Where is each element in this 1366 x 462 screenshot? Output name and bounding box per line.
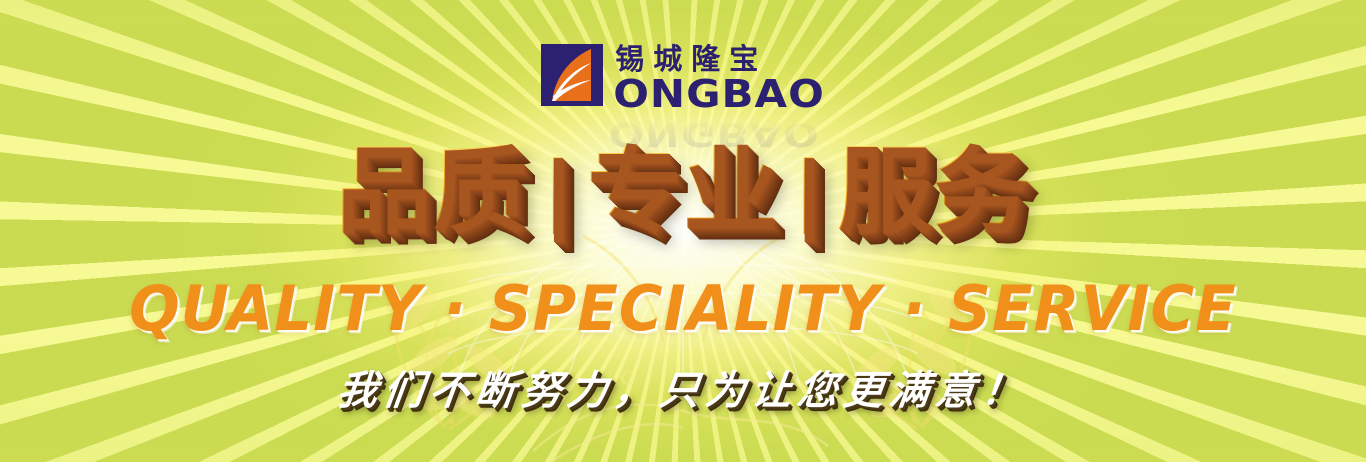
headline-separator-1: | <box>536 150 579 234</box>
logo-english-name: ONGBAO <box>613 75 825 114</box>
headline-separator-2: | <box>787 150 830 234</box>
headline-word-3: 服务 <box>836 145 1032 239</box>
promotional-banner: ONGBAO 锡城隆宝 ONGBAO 品质 | 专业 | 服务 QUALITY … <box>0 0 1366 462</box>
logo-chinese-name: 锡城隆宝 <box>615 45 825 74</box>
chinese-tagline: 我们不断努力，只为让您更满意！ <box>0 358 1366 416</box>
headline-word-1: 品质 <box>334 145 530 239</box>
english-tagline: QUALITY · SPECIALITY · SERVICE <box>0 272 1366 345</box>
chinese-tagline-text: 我们不断努力，只为让您更满意！ <box>334 358 1031 416</box>
headline-group: 品质 | 专业 | 服务 <box>0 128 1366 256</box>
english-tagline-text: QUALITY · SPECIALITY · SERVICE <box>129 272 1237 345</box>
sail-leaf-mark-icon <box>541 44 603 106</box>
headline-word-2: 专业 <box>585 145 781 239</box>
company-logo: 锡城隆宝 ONGBAO <box>0 44 1366 117</box>
logo-wordmark: 锡城隆宝 ONGBAO <box>613 44 825 117</box>
